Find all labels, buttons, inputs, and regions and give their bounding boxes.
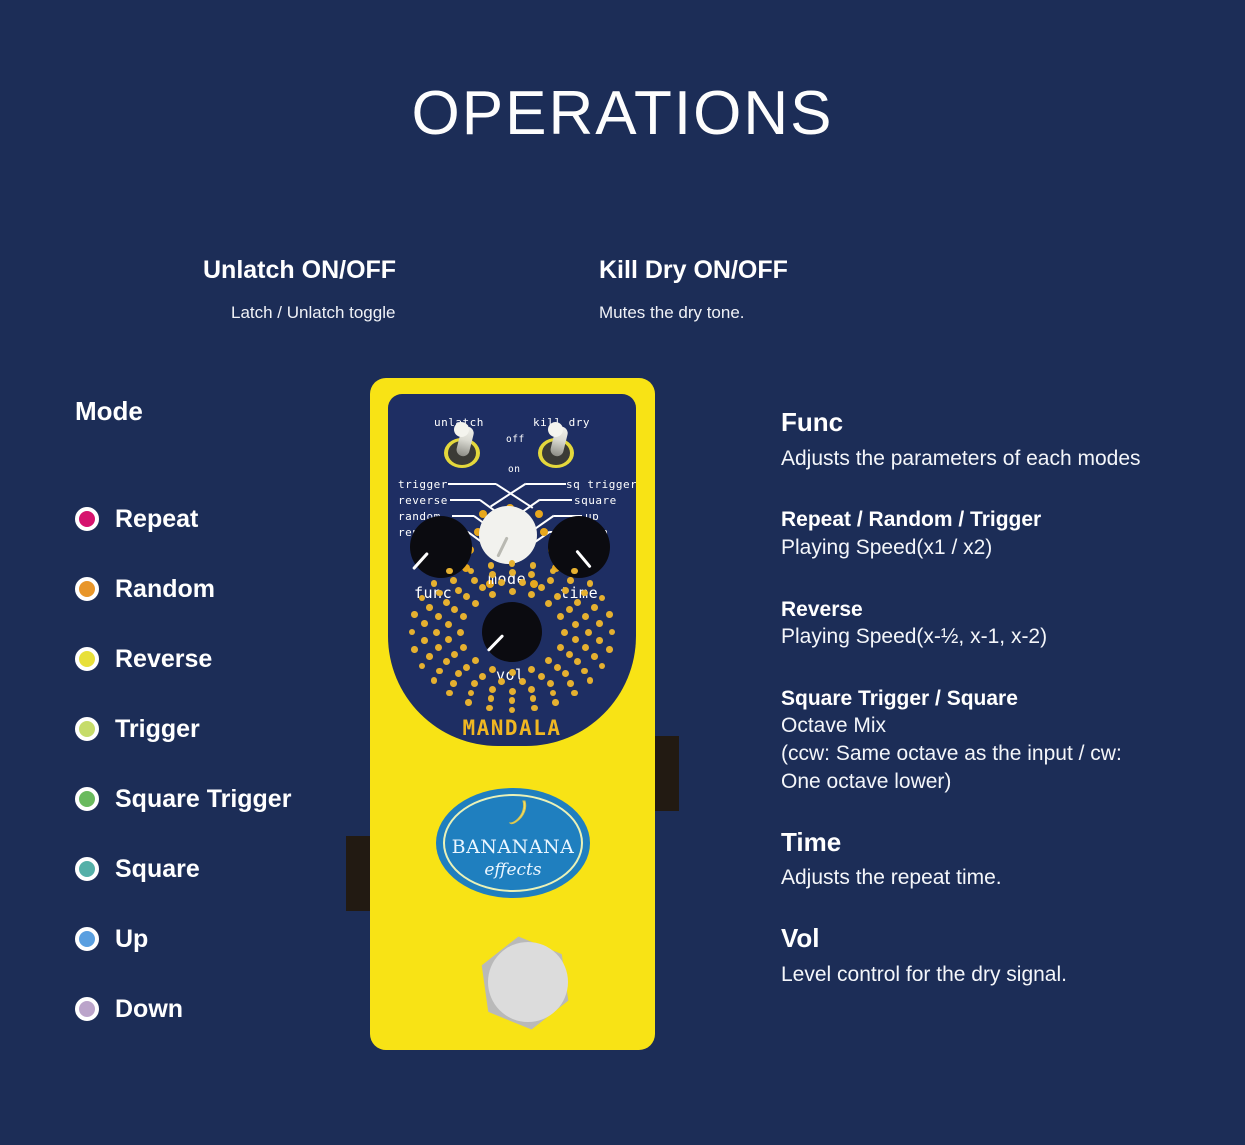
led-indicator [535, 510, 543, 518]
mandala-dot [509, 569, 516, 576]
mandala-dot [509, 669, 516, 676]
mandala-dot [509, 560, 516, 567]
mode-item-label: Square Trigger [115, 785, 291, 814]
mandala-dot [411, 611, 418, 618]
mandala-dot [421, 637, 428, 644]
pedal-mode-label-square: square [574, 494, 617, 507]
mode-list-item[interactable]: Trigger [75, 694, 375, 764]
mandala-dot [489, 591, 496, 598]
mandala-dot [545, 657, 552, 664]
mandala-dot [599, 595, 606, 602]
func-sub-heading-2: Reverse [781, 596, 1231, 623]
mandala-dot [591, 604, 598, 611]
mandala-dot [426, 604, 433, 611]
mandala-dot [435, 644, 442, 651]
pedal-mode-label-trigger: trigger [398, 478, 448, 491]
mandala-dot [457, 629, 464, 636]
mode-list-item[interactable]: Up [75, 904, 375, 974]
mandala-dot [554, 664, 561, 671]
operations-page: OPERATIONS Unlatch ON/OFF Latch / Unlatc… [0, 0, 1245, 1145]
mandala-dot [443, 658, 450, 665]
callout-unlatch-heading: Unlatch ON/OFF [203, 256, 396, 285]
mandala-dot [609, 629, 616, 636]
connector-random [452, 515, 474, 517]
mandala-dot [446, 690, 453, 697]
mandala-dot [528, 571, 535, 578]
mandala-dot [436, 590, 443, 597]
time-body: Adjusts the repeat time. [781, 864, 1231, 892]
mandala-dot [431, 677, 438, 684]
callout-unlatch-sub: Latch / Unlatch toggle [231, 303, 396, 323]
time-block: Time Adjusts the repeat time. [781, 826, 1231, 892]
mode-color-dot-icon [75, 927, 99, 951]
mandala-dot [545, 600, 552, 607]
toggle-position-off-label: off [506, 434, 525, 445]
mandala-dot [538, 584, 545, 591]
mandala-dot [472, 600, 479, 607]
mode-item-label: Up [115, 925, 148, 954]
callout-kill-dry-heading: Kill Dry ON/OFF [599, 256, 788, 285]
mode-list-item[interactable]: Reverse [75, 624, 375, 694]
mode-list-item[interactable]: Down [75, 974, 375, 1044]
mandala-dot [582, 613, 589, 620]
banana-icon [503, 798, 537, 832]
mandala-dot [463, 664, 470, 671]
mandala-dot [433, 629, 440, 636]
func-heading: Func [781, 406, 1231, 439]
mandala-dot [587, 677, 594, 684]
connector-reverse [450, 499, 480, 501]
mode-color-dot-icon [75, 857, 99, 881]
mandala-dot [528, 666, 535, 673]
vol-heading: Vol [781, 922, 1231, 955]
mode-item-label: Down [115, 995, 183, 1024]
func-sub-line-2: Playing Speed(x-½, x-1, x-2) [781, 623, 1231, 651]
time-heading: Time [781, 826, 1231, 859]
mandala-dot [419, 663, 426, 670]
mandala-dot [519, 678, 526, 685]
mandala-dot [468, 690, 475, 697]
func-sub-line-1: Playing Speed(x1 / x2) [781, 534, 1231, 562]
mandala-dot [574, 599, 581, 606]
knob-time[interactable] [548, 516, 610, 578]
mandala-dot [509, 688, 516, 695]
mandala-dot [446, 568, 453, 575]
connector-sq-trigger [526, 483, 566, 485]
mandala-dot [421, 620, 428, 627]
mandala-dot [547, 577, 554, 584]
mandala-dot [450, 680, 457, 687]
mandala-dot [552, 699, 559, 706]
mandala-dot [455, 670, 462, 677]
vol-block: Vol Level control for the dry signal. [781, 922, 1231, 988]
mandala-dot [489, 686, 496, 693]
mandala-dot [538, 673, 545, 680]
led-indicator [540, 528, 548, 536]
mode-list-item[interactable]: Repeat [75, 484, 375, 554]
mandala-dot [465, 699, 472, 706]
mandala-dot [528, 591, 535, 598]
func-sub-square: Square Trigger / Square Octave Mix (ccw:… [781, 685, 1231, 796]
mandala-dot [411, 646, 418, 653]
toggle-kill-dry[interactable] [536, 430, 576, 470]
mode-item-label: Square [115, 855, 200, 884]
func-sub-line-3a: Octave Mix [781, 712, 1231, 740]
page-title: OPERATIONS [0, 78, 1245, 149]
callout-kill-dry-sub: Mutes the dry tone. [599, 303, 788, 323]
mandala-dot [468, 568, 475, 575]
mode-item-label: Trigger [115, 715, 200, 744]
pedal-brand-word: MANDALA [388, 716, 636, 740]
logo-text-primary: BANANANA [436, 836, 590, 858]
mode-color-dot-icon [75, 577, 99, 601]
func-sub-heading-3: Square Trigger / Square [781, 685, 1231, 712]
mandala-dot [550, 690, 557, 697]
mode-color-dot-icon [75, 997, 99, 1021]
mandala-dot [596, 620, 603, 627]
callout-kill-dry: Kill Dry ON/OFF Mutes the dry tone. [599, 256, 788, 323]
mandala-dot [587, 580, 594, 587]
mandala-dot [567, 577, 574, 584]
mandala-dot [445, 636, 452, 643]
mandala-dot [557, 613, 564, 620]
mandala-dot [530, 562, 537, 569]
func-sub-reverse: Reverse Playing Speed(x-½, x-1, x-2) [781, 596, 1231, 651]
mandala-dot [599, 663, 606, 670]
mandala-dot [554, 593, 561, 600]
knob-vol[interactable] [482, 602, 542, 662]
mandala-dot [471, 680, 478, 687]
pedal-body: unlatch kill dry off on trigger [370, 378, 655, 1050]
mode-list: RepeatRandomReverseTriggerSquare Trigger… [75, 484, 375, 1044]
mandala-dot [509, 697, 516, 704]
mandala-dot [435, 613, 442, 620]
mandala-dot [581, 668, 588, 675]
mode-color-dot-icon [75, 507, 99, 531]
mandala-dot [489, 666, 496, 673]
logo-text-secondary: effects [436, 860, 590, 880]
mandala-dot [450, 577, 457, 584]
mandala-dot [574, 658, 581, 665]
mandala-dot [409, 629, 416, 636]
toggle-position-on-label: on [508, 464, 520, 475]
mandala-dot [509, 588, 516, 595]
mandala-dot [567, 680, 574, 687]
mandala-dot [566, 651, 573, 658]
mandala-dot [582, 644, 589, 651]
knob-time-pointer [575, 550, 591, 569]
mode-item-label: Random [115, 575, 215, 604]
vol-body: Level control for the dry signal. [781, 961, 1231, 989]
mandala-dot [460, 613, 467, 620]
mandala-dot [445, 621, 452, 628]
mode-item-label: Reverse [115, 645, 212, 674]
func-sub-repeat-random-trigger: Repeat / Random / Trigger Playing Speed(… [781, 506, 1231, 561]
mandala-dot [486, 705, 493, 712]
mandala-dot [460, 644, 467, 651]
pedal-mode-label-sq-trigger: sq trigger [566, 478, 636, 491]
mandala-dot [436, 668, 443, 675]
mode-list-item[interactable]: Random [75, 554, 375, 624]
mandala-dot [562, 587, 569, 594]
mode-item-label: Repeat [115, 505, 198, 534]
mandala-dot [566, 606, 573, 613]
mode-list-item[interactable]: Square Trigger [75, 764, 375, 834]
footswitch-button[interactable] [488, 942, 568, 1022]
mandala-dot [463, 593, 470, 600]
mandala-dot [581, 590, 588, 597]
pedal-mode-label-reverse: reverse [398, 494, 448, 507]
pedal-illustration: unlatch kill dry off on trigger [340, 370, 685, 1060]
led-indicator [530, 580, 538, 588]
func-sub-line-3b: (ccw: Same octave as the input / cw: [781, 740, 1231, 768]
mandala-dot [585, 629, 592, 636]
func-block: Func Adjusts the parameters of each mode… [781, 406, 1231, 472]
mandala-dot [547, 680, 554, 687]
func-sub-line-3c: One octave lower) [781, 768, 1231, 796]
mandala-dot [530, 695, 537, 702]
controls-column: Func Adjusts the parameters of each mode… [781, 406, 1231, 989]
mandala-dot [606, 646, 613, 653]
connector-square [540, 499, 572, 501]
mandala-dot [557, 644, 564, 651]
connector-trigger-diag [496, 483, 534, 508]
mandala-dot [572, 621, 579, 628]
callout-unlatch: Unlatch ON/OFF Latch / Unlatch toggle [203, 256, 396, 323]
mandala-dot [571, 568, 578, 575]
mandala-dot [528, 686, 535, 693]
mandala-dot [455, 587, 462, 594]
mandala-dot [426, 653, 433, 660]
knob-func[interactable] [410, 516, 472, 578]
knob-mode-pointer [496, 536, 508, 557]
func-body: Adjusts the parameters of each modes [781, 445, 1231, 473]
mandala-dot [488, 695, 495, 702]
mandala-dot [479, 673, 486, 680]
mandala-dot [488, 562, 495, 569]
mandala-dot [443, 599, 450, 606]
mandala-dot [591, 653, 598, 660]
mandala-dot [596, 637, 603, 644]
mandala-dot [479, 584, 486, 591]
mandala-dot [531, 705, 538, 712]
mandala-dot [562, 670, 569, 677]
mandala-dot [471, 577, 478, 584]
mandala-dot [472, 657, 479, 664]
mandala-dot [509, 707, 516, 714]
mode-color-dot-icon [75, 787, 99, 811]
knob-mode[interactable] [479, 506, 537, 564]
toggle-unlatch[interactable] [442, 430, 482, 470]
mandala-dot [519, 579, 526, 586]
mode-color-dot-icon [75, 647, 99, 671]
mode-list-item[interactable]: Square [75, 834, 375, 904]
knob-func-pointer [412, 552, 429, 570]
mandala-dot [550, 568, 557, 575]
mandala-dot [606, 611, 613, 618]
mandala-dot [561, 629, 568, 636]
mandala-dot [451, 651, 458, 658]
mandala-dot [571, 690, 578, 697]
mandala-dot [431, 580, 438, 587]
pedal-control-face: unlatch kill dry off on trigger [388, 394, 636, 746]
mode-section-heading: Mode [75, 396, 143, 427]
func-sub-heading-1: Repeat / Random / Trigger [781, 506, 1231, 533]
mandala-dot [572, 636, 579, 643]
mandala-dot [451, 606, 458, 613]
mode-color-dot-icon [75, 717, 99, 741]
connector-trigger [448, 483, 496, 485]
knob-vol-pointer [487, 634, 504, 652]
brand-logo-badge: BANANANA effects [436, 788, 590, 898]
